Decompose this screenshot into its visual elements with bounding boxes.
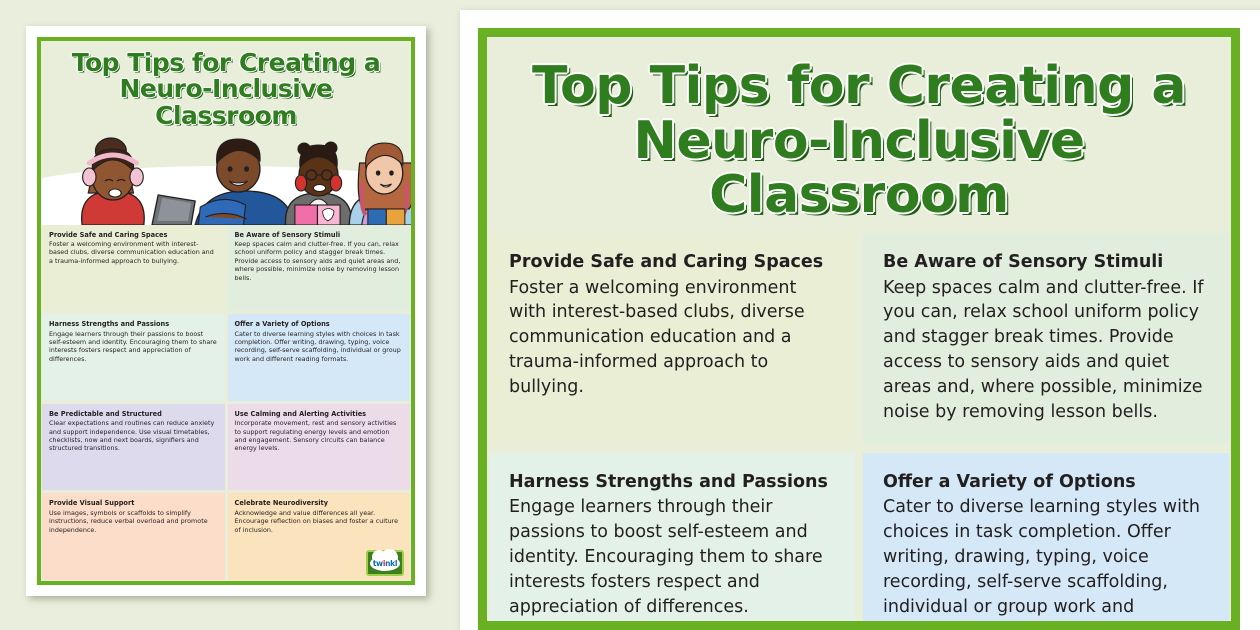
thumbnail-green-frame: Top Tips for Creating a Neuro-Inclusive … [37, 37, 415, 585]
tip-body: Keep spaces calm and clutter-free. If yo… [235, 240, 404, 282]
poster-title-line-1: Top Tips for Creating a [497, 59, 1221, 114]
thumbnail-title-line-2: Neuro-Inclusive Classroom [47, 76, 405, 129]
screenshot-canvas: Top Tips for Creating a Neuro-Inclusive … [0, 0, 1260, 630]
tip-cell[interactable]: Be Predictable and Structured Clear expe… [42, 404, 225, 491]
tip-cell[interactable]: Offer a Variety of Options Cater to dive… [863, 453, 1229, 621]
tip-heading: Celebrate Neurodiversity [235, 499, 404, 507]
tip-heading: Provide Safe and Caring Spaces [509, 251, 835, 274]
tip-heading: Be Predictable and Structured [49, 410, 218, 418]
tip-body: Keep spaces calm and clutter-free. If yo… [883, 276, 1209, 425]
tip-cell[interactable]: Celebrate Neurodiversity Acknowledge and… [228, 493, 411, 580]
tip-cell[interactable]: Provide Safe and Caring Spaces Foster a … [489, 233, 855, 445]
tip-heading: Offer a Variety of Options [235, 320, 404, 328]
thumbnail-illustration [41, 133, 411, 225]
tip-cell[interactable]: Offer a Variety of Options Cater to dive… [228, 314, 411, 401]
thumbnail-title: Top Tips for Creating a Neuro-Inclusive … [41, 41, 411, 133]
twinkl-logo[interactable]: twinkl [366, 550, 404, 576]
zoom-green-frame: Top Tips for Creating a Neuro-Inclusive … [478, 28, 1240, 630]
thumbnail-tips-grid: Provide Safe and Caring Spaces Foster a … [41, 225, 411, 581]
tip-body: Incorporate movement, rest and sensory a… [235, 419, 404, 453]
tip-body: Foster a welcoming environment with inte… [49, 240, 218, 265]
twinkl-wordmark: twinkl [373, 559, 397, 568]
tip-body: Clear expectations and routines can redu… [49, 419, 218, 453]
tip-body: Acknowledge and value differences all ye… [235, 509, 404, 534]
zoom-paper: Top Tips for Creating a Neuro-Inclusive … [460, 10, 1260, 630]
tip-cell[interactable]: Harness Strengths and Passions Engage le… [42, 314, 225, 401]
tip-heading: Offer a Variety of Options [883, 471, 1209, 494]
poster-zoom-preview[interactable]: Top Tips for Creating a Neuro-Inclusive … [460, 10, 1260, 630]
tip-cell[interactable]: Use Calming and Alerting Activities Inco… [228, 404, 411, 491]
tip-body: Use images, symbols or scaffolds to simp… [49, 509, 218, 534]
tip-cell[interactable]: Be Aware of Sensory Stimuli Keep spaces … [228, 225, 411, 312]
tip-heading: Provide Safe and Caring Spaces [49, 231, 218, 239]
tip-body: Foster a welcoming environment with inte… [509, 276, 835, 400]
tip-cell[interactable]: Harness Strengths and Passions Engage le… [489, 453, 855, 621]
tip-heading: Be Aware of Sensory Stimuli [883, 251, 1209, 274]
poster-title-line-2: Neuro-Inclusive Classroom [497, 114, 1221, 223]
tip-heading: Be Aware of Sensory Stimuli [235, 231, 404, 239]
tip-body: Cater to diverse learning styles with ch… [883, 495, 1209, 621]
illustration-students-svg [41, 133, 411, 225]
tip-body: Engage learners through their passions t… [509, 495, 835, 619]
tip-heading: Provide Visual Support [49, 499, 218, 507]
tip-heading: Harness Strengths and Passions [509, 471, 835, 494]
tip-heading: Harness Strengths and Passions [49, 320, 218, 328]
thumbnail-paper: Top Tips for Creating a Neuro-Inclusive … [26, 26, 426, 596]
poster-title: Top Tips for Creating a Neuro-Inclusive … [487, 37, 1231, 233]
poster-thumbnail[interactable]: Top Tips for Creating a Neuro-Inclusive … [26, 26, 426, 596]
tip-body: Cater to diverse learning styles with ch… [235, 330, 404, 364]
tip-cell[interactable]: Provide Visual Support Use images, symbo… [42, 493, 225, 580]
tip-body: Engage learners through their passions t… [49, 330, 218, 364]
zoom-inner: Top Tips for Creating a Neuro-Inclusive … [487, 37, 1231, 621]
tip-cell[interactable]: Be Aware of Sensory Stimuli Keep spaces … [863, 233, 1229, 445]
tip-heading: Use Calming and Alerting Activities [235, 410, 404, 418]
thumbnail-title-line-1: Top Tips for Creating a [47, 50, 405, 76]
tip-cell[interactable]: Provide Safe and Caring Spaces Foster a … [42, 225, 225, 312]
thumbnail-inner: Top Tips for Creating a Neuro-Inclusive … [41, 41, 411, 581]
poster-tips-grid: Provide Safe and Caring Spaces Foster a … [487, 233, 1231, 621]
